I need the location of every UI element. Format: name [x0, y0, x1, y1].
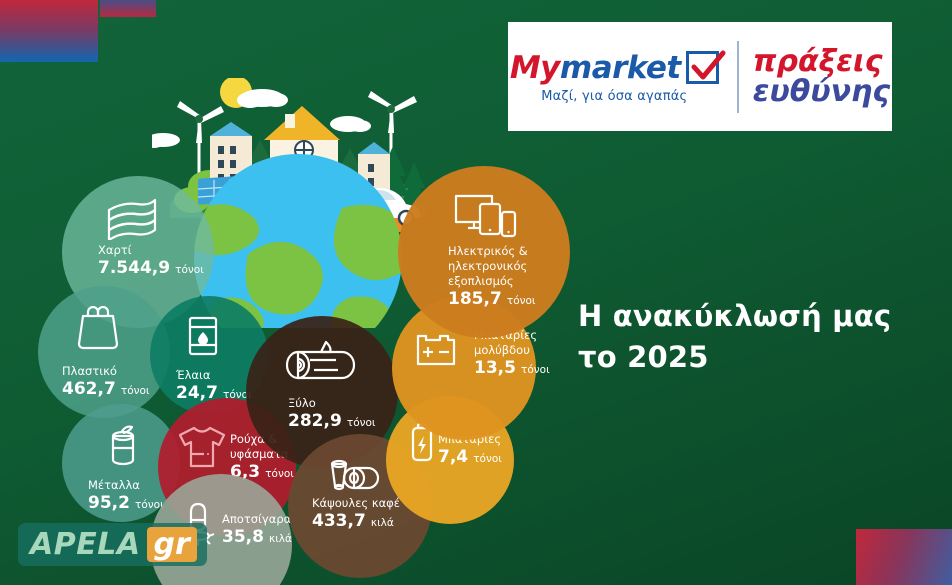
label-value: 95,2 — [88, 493, 130, 513]
campaign-logo: πράξεις ευθύνης — [753, 47, 890, 107]
paper-stack-icon — [103, 196, 159, 240]
label-unit: κιλά — [269, 533, 292, 545]
bubble-label-wood: Ξύλο 282,9 τόνοι — [288, 396, 408, 432]
label-unit: τόνοι — [347, 417, 376, 429]
bubble-label-weee: Ηλεκτρικός & ηλεκτρονικός εξοπλισμός 185… — [448, 244, 570, 310]
watermark: APELA gr — [18, 521, 207, 567]
infographic-canvas: Χαρτί 7.544,9 τόνοι Πλαστικό 462,7 τόνοι… — [0, 0, 952, 585]
label-unit: κιλά — [371, 517, 394, 529]
label-name-3: εξοπλισμός — [448, 274, 570, 288]
oil-drum-icon — [182, 314, 224, 358]
logo-my-text: My — [510, 50, 560, 86]
label-unit: τόνοι — [175, 264, 204, 276]
label-unit: τόνοι — [473, 453, 502, 465]
logo-card: My market Μαζί, για όσα αγαπάς πράξεις ε… — [508, 22, 892, 131]
corner-gradient-top-left-small — [100, 0, 156, 17]
page-title: Η ανακύκλωσή μας το 2025 — [578, 296, 928, 378]
bubble-label-paper: Χαρτί 7.544,9 τόνοι — [98, 243, 218, 279]
label-name: Χαρτί — [98, 243, 218, 257]
headline-line-1: Η ανακύκλωσή μας — [578, 296, 928, 337]
campaign-line-1: πράξεις — [753, 47, 890, 77]
logo-market-text: market — [560, 50, 681, 86]
log-icon — [284, 338, 358, 388]
label-unit: τόνοι — [265, 468, 294, 480]
label-value: 462,7 — [62, 379, 116, 399]
mymarket-logo: My market Μαζί, για όσα αγαπάς — [510, 50, 723, 104]
watermark-tld: gr — [147, 527, 197, 562]
logo-tagline: Μαζί, για όσα αγαπάς — [541, 89, 687, 104]
plastic-bag-icon — [75, 306, 121, 350]
corner-gradient-bottom-right — [856, 529, 952, 585]
label-value: 282,9 — [288, 411, 342, 431]
devices-icon — [452, 190, 518, 242]
label-value: 13,5 — [474, 358, 516, 378]
watermark-name: APELA — [30, 527, 141, 562]
label-unit: τόνοι — [121, 385, 150, 397]
label-name-2: μολύβδου — [474, 343, 584, 357]
corner-gradient-top-left — [0, 0, 98, 62]
label-value: 7,4 — [438, 447, 468, 467]
label-name-2: ηλεκτρονικός — [448, 259, 570, 273]
label-name-1: Ηλεκτρικός & — [448, 244, 570, 258]
coffee-capsule-icon — [316, 456, 382, 498]
tshirt-icon — [176, 422, 228, 470]
label-value: 185,7 — [448, 289, 502, 309]
tin-can-icon — [104, 424, 142, 466]
label-value: 433,7 — [312, 511, 366, 531]
label-unit: τόνοι — [521, 364, 550, 376]
label-unit: τόνοι — [507, 295, 536, 307]
campaign-line-2: ευθύνης — [753, 77, 890, 107]
label-value: 35,8 — [222, 527, 264, 547]
headline-line-2: το 2025 — [578, 337, 928, 378]
label-value: 7.544,9 — [98, 258, 170, 278]
label-name: Ξύλο — [288, 396, 408, 410]
check-icon — [686, 51, 719, 84]
logo-divider — [737, 41, 739, 113]
